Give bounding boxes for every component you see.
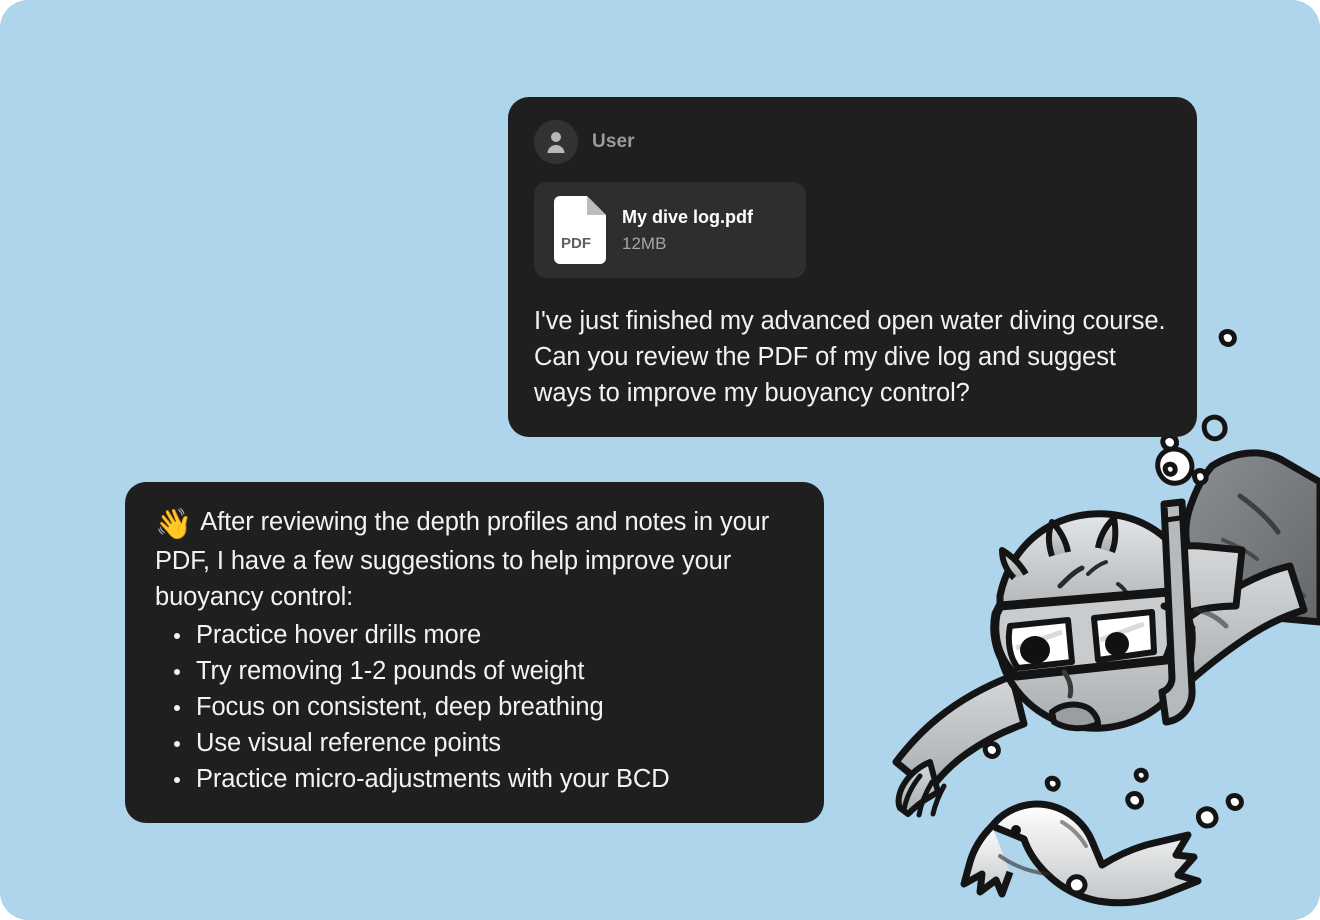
pdf-attachment-card[interactable]: PDF My dive log.pdf 12MB [534, 182, 806, 278]
pdf-attachment-meta: My dive log.pdf 12MB [622, 206, 753, 254]
assistant-intro-text: 👋After reviewing the depth profiles and … [155, 504, 796, 615]
suggestion-item: Try removing 1-2 pounds of weight [155, 653, 796, 689]
user-name-label: User [592, 131, 635, 153]
left-arm [896, 676, 1024, 790]
fish [964, 804, 1198, 903]
user-message-header: User [534, 118, 1171, 165]
suggestion-item: Practice hover drills more [155, 617, 796, 653]
person-avatar-icon [534, 120, 578, 164]
diver-mouth [1052, 705, 1098, 729]
suggestion-item: Focus on consistent, deep breathing [155, 689, 796, 725]
diver-figure [896, 453, 1320, 815]
assistant-intro-copy: After reviewing the depth profiles and n… [155, 508, 769, 611]
snorkel [1162, 502, 1192, 722]
dive-mask [995, 592, 1174, 676]
svg-text:PDF: PDF [561, 235, 591, 252]
diver-torso [1058, 546, 1242, 678]
suggestion-list: Practice hover drills moreTry removing 1… [155, 617, 796, 797]
chat-canvas: User PDF My dive log.pdf 12MB I've just … [0, 0, 1320, 920]
suggestion-item: Use visual reference points [155, 725, 796, 761]
pdf-file-icon: PDF [550, 196, 606, 264]
fish-eye [1011, 825, 1021, 835]
suggestion-item: Practice micro-adjustments with your BCD [155, 761, 796, 797]
diver-face [998, 606, 1192, 728]
eye-right [1105, 632, 1129, 656]
pdf-file-name: My dive log.pdf [622, 206, 753, 229]
assistant-message-bubble: 👋After reviewing the depth profiles and … [125, 482, 824, 823]
left-hand [899, 762, 938, 814]
wetsuit-sleeve [1186, 453, 1320, 622]
mask-lens-right [1094, 612, 1154, 660]
pdf-file-size: 12MB [622, 234, 753, 254]
eye-left [1020, 636, 1050, 664]
diver-hair [1000, 514, 1182, 630]
user-message-text: I've just finished my advanced open wate… [534, 303, 1171, 411]
mask-lens-left [1009, 620, 1072, 668]
user-message-bubble: User PDF My dive log.pdf 12MB I've just … [508, 97, 1197, 437]
right-arm [1148, 566, 1304, 690]
waving-hand-emoji: 👋 [155, 508, 192, 541]
